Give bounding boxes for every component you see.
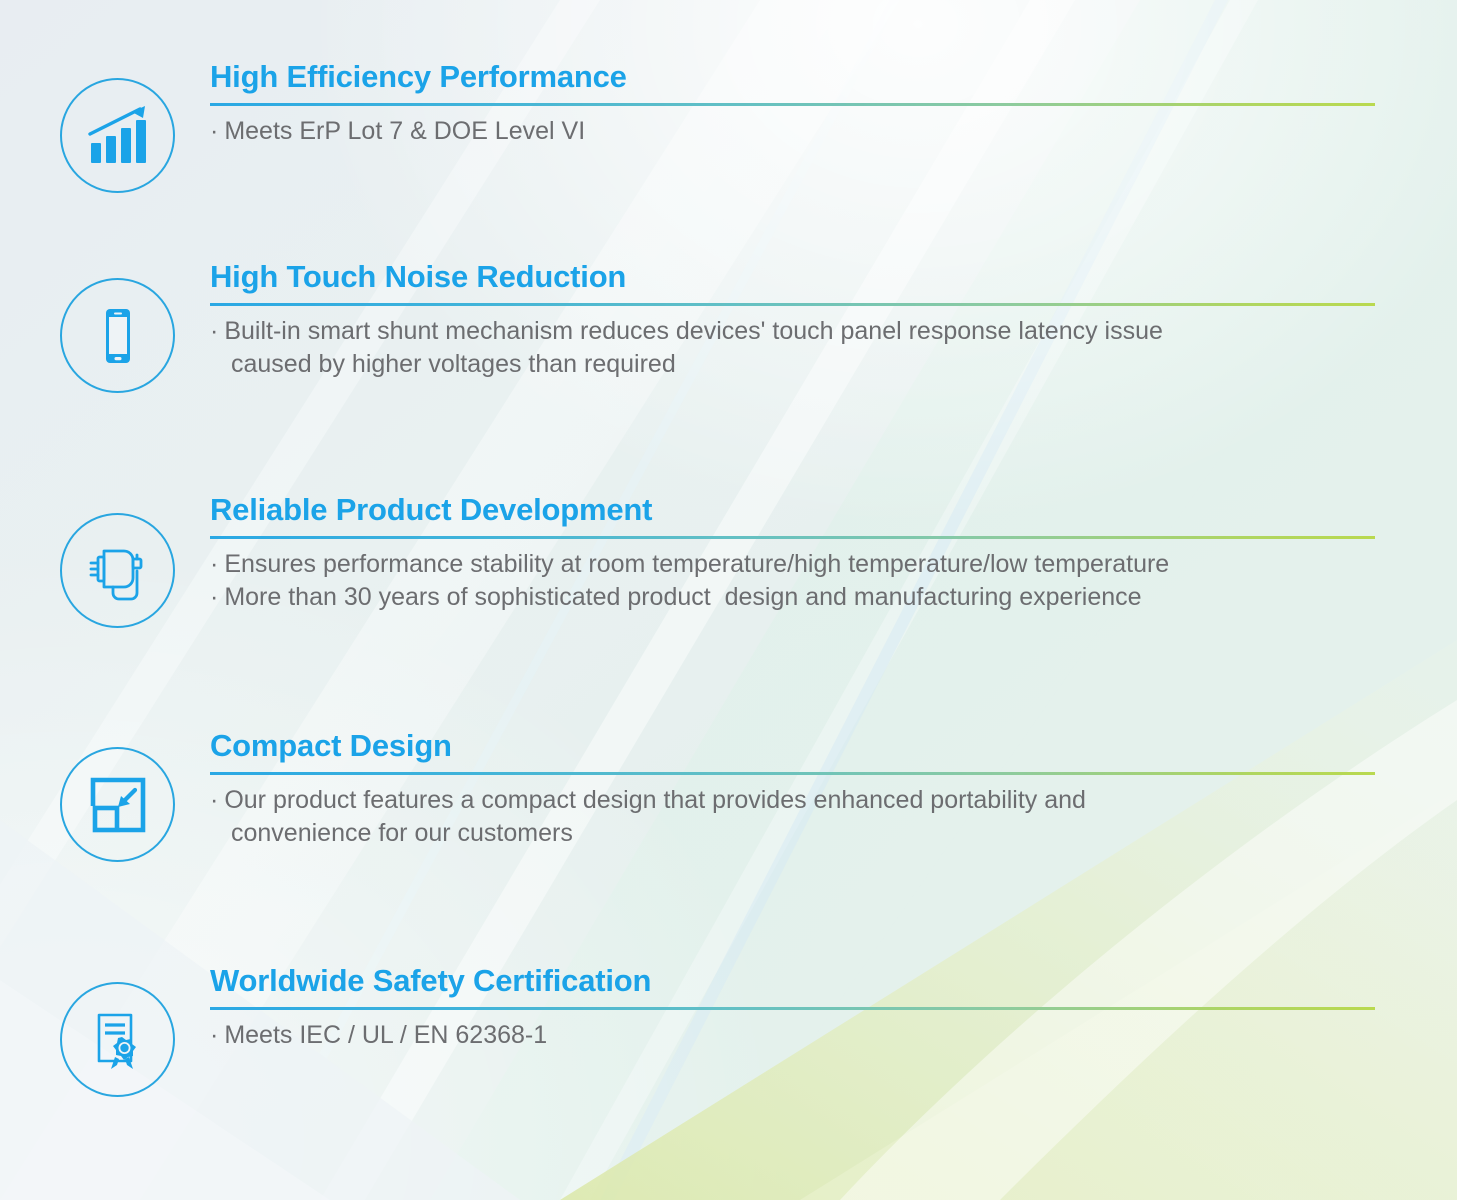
feature-body: Compact Design ·Our product features a c… [210, 729, 1457, 850]
power-adapter-icon-glyph [82, 535, 154, 607]
feature-divider [210, 103, 1375, 106]
feature-body: High Efficiency Performance ·Meets ErP L… [210, 28, 1457, 148]
feature-line-text: convenience for our customers [231, 819, 573, 847]
feature-item-high-efficiency-performance: High Efficiency Performance ·Meets ErP L… [0, 28, 1457, 260]
feature-line: ·Meets ErP Lot 7 & DOE Level VI [210, 115, 1457, 148]
feature-title: High Touch Noise Reduction [210, 260, 1457, 294]
feature-line: convenience for our customers [210, 817, 1457, 850]
certificate-seal-icon-glyph [85, 1007, 151, 1073]
compact-resize-icon [60, 747, 175, 862]
feature-list: High Efficiency Performance ·Meets ErP L… [0, 0, 1457, 1164]
compact-resize-icon-glyph [85, 772, 151, 838]
bullet-dot: · [210, 583, 224, 611]
feature-lines: ·Our product features a compact design t… [210, 784, 1457, 850]
feature-divider [210, 772, 1375, 775]
bar-chart-growth-icon-glyph [83, 101, 153, 171]
feature-divider [210, 1007, 1375, 1010]
feature-line: ·Meets IEC / UL / EN 62368-1 [210, 1019, 1457, 1052]
bullet-dot: · [210, 786, 224, 814]
feature-line-text: Built-in smart shunt mechanism reduces d… [224, 317, 1163, 345]
bullet-dot: · [210, 117, 224, 145]
smartphone-icon-glyph [83, 301, 153, 371]
feature-line: ·More than 30 years of sophisticated pro… [210, 581, 1457, 614]
feature-lines: ·Meets IEC / UL / EN 62368-1 [210, 1019, 1457, 1052]
feature-line-text: Meets IEC / UL / EN 62368-1 [224, 1021, 547, 1049]
feature-title: High Efficiency Performance [210, 60, 1457, 94]
feature-item-worldwide-safety-certification: Worldwide Safety Certification ·Meets IE… [0, 964, 1457, 1164]
power-adapter-icon [60, 513, 175, 628]
certificate-seal-icon [60, 982, 175, 1097]
feature-line: ·Built-in smart shunt mechanism reduces … [210, 315, 1457, 348]
feature-body: Worldwide Safety Certification ·Meets IE… [210, 964, 1457, 1052]
feature-line-text: Meets ErP Lot 7 & DOE Level VI [224, 117, 585, 145]
feature-line-text: caused by higher voltages than required [231, 350, 676, 378]
feature-divider [210, 536, 1375, 539]
bullet-dot: · [210, 550, 224, 578]
feature-title: Worldwide Safety Certification [210, 964, 1457, 998]
feature-title: Compact Design [210, 729, 1457, 763]
feature-body: High Touch Noise Reduction ·Built-in sma… [210, 260, 1457, 381]
feature-body: Reliable Product Development ·Ensures pe… [210, 493, 1457, 614]
bar-chart-growth-icon [60, 78, 175, 193]
feature-item-reliable-product-development: Reliable Product Development ·Ensures pe… [0, 493, 1457, 729]
feature-lines: ·Built-in smart shunt mechanism reduces … [210, 315, 1457, 381]
feature-line-text: More than 30 years of sophisticated prod… [224, 583, 1141, 611]
feature-divider [210, 303, 1375, 306]
feature-line: ·Ensures performance stability at room t… [210, 548, 1457, 581]
feature-line: ·Our product features a compact design t… [210, 784, 1457, 817]
bullet-dot: · [210, 1021, 224, 1049]
smartphone-icon [60, 278, 175, 393]
feature-title: Reliable Product Development [210, 493, 1457, 527]
feature-lines: ·Ensures performance stability at room t… [210, 548, 1457, 614]
feature-line-text: Ensures performance stability at room te… [224, 550, 1169, 578]
feature-item-high-touch-noise-reduction: High Touch Noise Reduction ·Built-in sma… [0, 260, 1457, 493]
feature-line-text: Our product features a compact design th… [224, 786, 1086, 814]
feature-line: caused by higher voltages than required [210, 348, 1457, 381]
feature-lines: ·Meets ErP Lot 7 & DOE Level VI [210, 115, 1457, 148]
bullet-dot: · [210, 317, 224, 345]
feature-item-compact-design: Compact Design ·Our product features a c… [0, 729, 1457, 964]
